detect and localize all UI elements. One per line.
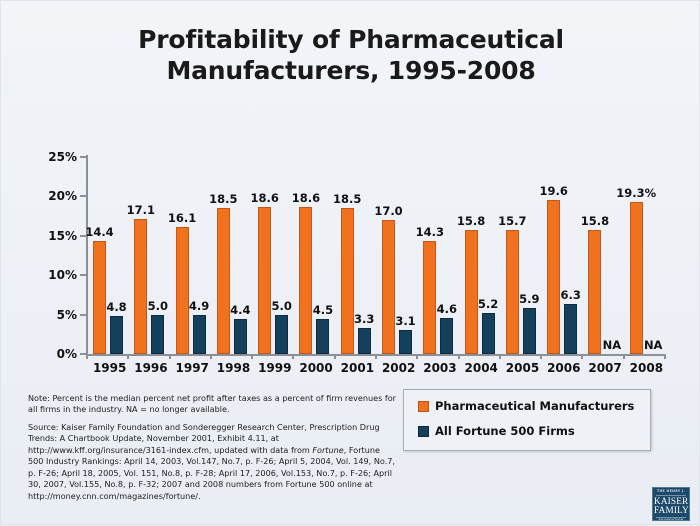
y-axis-tick-label: 25% — [31, 150, 77, 164]
bar-pharma-2003[interactable] — [423, 241, 436, 354]
bar-value-label: 15.7 — [491, 214, 533, 228]
bar-group: 18.65.0 — [254, 157, 295, 354]
source-italic: Fortune — [312, 445, 343, 455]
x-axis-tick-mark — [375, 354, 377, 359]
slide-canvas: Profitability of Pharmaceutical Manufact… — [0, 0, 700, 525]
bar-value-label: 18.6 — [285, 191, 327, 205]
y-axis-tick-label: 20% — [31, 189, 77, 203]
source-text: Source: Kaiser Family Foundation and Son… — [28, 422, 396, 502]
bar-pharma-2007[interactable] — [588, 230, 601, 355]
bar-pharma-2006[interactable] — [547, 200, 560, 354]
x-axis-tick-mark — [623, 354, 625, 359]
x-axis-tick-mark — [334, 354, 336, 359]
y-axis-tick-label: 15% — [31, 229, 77, 243]
bar-fortune500-2000[interactable] — [316, 319, 329, 354]
bar-pharma-2008[interactable] — [630, 202, 643, 354]
legend-swatch-icon-pharma — [418, 401, 429, 412]
bar-pharma-2004[interactable] — [465, 230, 478, 355]
bar-group: 17.03.1 — [378, 157, 419, 354]
bar-pharma-1999[interactable] — [258, 207, 271, 354]
y-axis-tick-label: 0% — [31, 347, 77, 361]
bar-pharma-1997[interactable] — [176, 227, 189, 354]
bar-value-label: 15.8 — [574, 214, 616, 228]
bar-value-label: 17.0 — [368, 204, 410, 218]
legend-swatch-icon-fortune — [418, 426, 429, 437]
bar-pharma-2001[interactable] — [341, 208, 354, 354]
x-axis-tick-mark — [458, 354, 460, 359]
x-axis-tick-mark — [292, 354, 294, 359]
bar-value-label: 18.6 — [244, 191, 286, 205]
bar-fortune500-2004[interactable] — [482, 313, 495, 354]
bar-fortune500-1996[interactable] — [151, 315, 164, 354]
bar-pharma-1998[interactable] — [217, 208, 230, 354]
bar-value-label: 18.5 — [326, 192, 368, 206]
bar-fortune500-2005[interactable] — [523, 308, 536, 354]
x-axis-tick-mark — [581, 354, 583, 359]
chart-legend: Pharmaceutical Manufacturers All Fortune… — [403, 389, 651, 451]
x-axis-tick-mark — [499, 354, 501, 359]
notes-block: Note: Percent is the median percent net … — [28, 393, 396, 508]
note-text: Note: Percent is the median percent net … — [28, 393, 396, 416]
bar-fortune500-2002[interactable] — [399, 330, 412, 354]
logo-line-3: FAMILY — [654, 506, 688, 516]
bar-value-label: 14.4 — [79, 225, 121, 239]
bar-value-label: 19.6 — [533, 184, 575, 198]
bar-group: 18.53.3 — [337, 157, 378, 354]
bar-fortune500-1998[interactable] — [234, 319, 247, 354]
bar-fortune500-1995[interactable] — [110, 316, 123, 354]
bar-group: 17.15.0 — [130, 157, 171, 354]
bar-group: 18.54.4 — [213, 157, 254, 354]
bar-fortune500-2003[interactable] — [440, 318, 453, 354]
legend-item-pharma: Pharmaceutical Manufacturers — [418, 399, 650, 413]
bar-fortune500-1997[interactable] — [193, 315, 206, 354]
plot-area: 14.44.817.15.016.14.918.54.418.65.018.64… — [86, 157, 664, 354]
x-axis-label-2008: 2008 — [616, 361, 676, 375]
y-axis-tick-label: 5% — [31, 308, 77, 322]
bar-group: 19.66.3 — [543, 157, 584, 354]
bar-pharma-1995[interactable] — [93, 241, 106, 354]
legend-label-pharma: Pharmaceutical Manufacturers — [435, 399, 634, 413]
bar-group: 19.3%NA — [626, 157, 667, 354]
x-axis-tick-mark — [251, 354, 253, 359]
bar-value-label: 18.5 — [202, 192, 244, 206]
legend-item-fortune: All Fortune 500 Firms — [418, 424, 650, 438]
bar-value-label: 19.3% — [615, 186, 657, 200]
bar-fortune500-2006[interactable] — [564, 304, 577, 354]
bar-group: 15.85.2 — [461, 157, 502, 354]
bar-value-label: 17.1 — [120, 203, 162, 217]
logo-line-1: THE HENRY J. — [654, 490, 688, 494]
bar-value-label: 15.8 — [450, 214, 492, 228]
kaiser-family-foundation-logo: THE HENRY J. KAISER FAMILY FOUNDATION — [652, 487, 690, 521]
bar-group: 16.14.9 — [172, 157, 213, 354]
legend-label-fortune: All Fortune 500 Firms — [435, 424, 575, 438]
x-axis-tick-mark — [86, 354, 88, 359]
x-axis-tick-mark — [127, 354, 129, 359]
x-axis-tick-mark — [210, 354, 212, 359]
bar-group: 14.34.6 — [419, 157, 460, 354]
bar-group: 14.44.8 — [89, 157, 130, 354]
x-axis-tick-mark — [664, 354, 666, 359]
y-axis-tick-label: 10% — [31, 268, 77, 282]
x-axis-tick-mark — [540, 354, 542, 359]
bar-pharma-1996[interactable] — [134, 219, 147, 354]
bar-fortune500-1999[interactable] — [275, 315, 288, 354]
x-axis-tick-mark — [169, 354, 171, 359]
bar-pharma-2000[interactable] — [299, 207, 312, 354]
bar-na-label: NA — [632, 338, 674, 352]
bar-group: 18.64.5 — [295, 157, 336, 354]
bar-value-label: 14.3 — [409, 225, 451, 239]
bar-value-label: 16.1 — [161, 211, 203, 225]
bar-fortune500-2001[interactable] — [358, 328, 371, 354]
logo-line-4: FOUNDATION — [654, 519, 688, 521]
x-axis-tick-mark — [416, 354, 418, 359]
bar-pharma-2002[interactable] — [382, 220, 395, 354]
